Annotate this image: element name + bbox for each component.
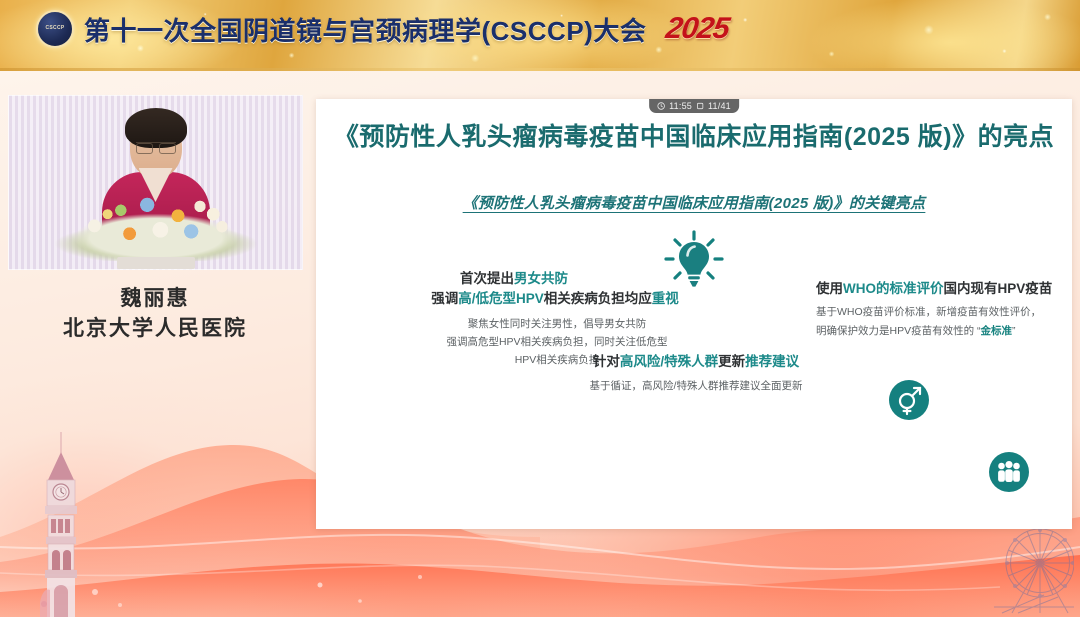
heading-plain-text: 相关疾病负担均应 bbox=[544, 291, 652, 306]
subtext-line: 聚焦女性同时关注男性，倡导男女共防 bbox=[322, 315, 792, 333]
cscp-logo-text: CSCCP bbox=[45, 26, 64, 32]
block-high-risk-special-population: 针对高风险/特殊人群更新推荐建议 基于循证，高风险/特殊人群推荐建议全面更新 bbox=[496, 352, 896, 396]
page-icon bbox=[696, 102, 704, 110]
glasses-icon bbox=[136, 142, 176, 151]
slide-subtitle: 《预防性人乳头瘤病毒疫苗中国临床应用指南(2025 版)》的关键亮点 bbox=[316, 192, 1072, 213]
slide-title: 《预防性人乳头瘤病毒疫苗中国临床应用指南(2025 版)》的亮点 bbox=[316, 117, 1072, 153]
slide-panel: 11:55 11/41 《预防性人乳头瘤病毒疫苗中国临床应用指南(2025 版)… bbox=[316, 99, 1072, 529]
heading-plain-text: 使用 bbox=[816, 281, 843, 296]
block-subtext: 基于循证，高风险/特殊人群推荐建议全面更新 bbox=[496, 377, 896, 395]
podium-base bbox=[117, 257, 195, 269]
speaker-organization: 北京大学人民医院 bbox=[0, 312, 310, 342]
cscp-logo-icon: CSCCP bbox=[36, 10, 74, 48]
page-counter: 11/41 bbox=[708, 99, 731, 113]
heading-plain-text: 强调 bbox=[431, 291, 458, 306]
subtext-line: 强调高危型HPV相关疾病负担，同时关注低危型 bbox=[322, 333, 792, 351]
heading-plain-text: 针对 bbox=[593, 354, 620, 369]
app-stage: CSCCP 第十一次全国阴道镜与宫颈病理学(CSCCP)大会 2025 魏丽惠 … bbox=[0, 0, 1080, 617]
block-heading-line1: 针对高风险/特殊人群更新推荐建议 bbox=[496, 352, 896, 372]
ferris-wheel-illustration bbox=[954, 525, 1074, 617]
conference-banner: CSCCP 第十一次全国阴道镜与宫颈病理学(CSCCP)大会 2025 bbox=[0, 0, 1080, 71]
clock-tower-illustration bbox=[38, 432, 84, 617]
block-heading-line1: 首次提出男女共防 bbox=[322, 269, 792, 289]
subtext-highlight: 金标准 bbox=[981, 325, 1013, 337]
flower-arrangement bbox=[46, 183, 266, 261]
block-subtext: 基于WHO疫苗评价标准，新增疫苗有效性评价， 明确保护效力是HPV疫苗有效性的 … bbox=[816, 303, 1074, 340]
conference-title: 第十一次全国阴道镜与宫颈病理学(CSCCP)大会 bbox=[84, 11, 646, 48]
elapsed-time: 11:55 bbox=[669, 99, 692, 113]
heading-plain-text: 国内现有HPV疫苗 bbox=[944, 281, 1053, 296]
subtext-line: 明确保护效力是HPV疫苗有效性的 “金标准” bbox=[816, 322, 1074, 340]
heading-accent-text: 推荐建议 bbox=[745, 354, 799, 369]
block-heading-line1: 使用WHO的标准评价国内现有HPV疫苗 bbox=[816, 279, 1074, 299]
heading-accent-text: 男女共防 bbox=[514, 271, 568, 286]
conference-year: 2025 bbox=[664, 12, 732, 46]
people-group-icon bbox=[989, 452, 1029, 492]
block-who-standard-evaluation: 使用WHO的标准评价国内现有HPV疫苗 基于WHO疫苗评价标准，新增疫苗有效性评… bbox=[816, 279, 1074, 340]
heading-plain-text: 首次提出 bbox=[460, 271, 514, 286]
heading-accent-text: 高风险/特殊人群 bbox=[620, 354, 718, 369]
speaker-name: 魏丽惠 bbox=[0, 282, 310, 312]
slide-progress-badge: 11:55 11/41 bbox=[649, 99, 739, 113]
subtext-line: 基于WHO疫苗评价标准，新增疫苗有效性评价， bbox=[816, 303, 1074, 321]
clock-icon bbox=[657, 102, 665, 110]
heading-accent-text: WHO的标准评价 bbox=[843, 281, 944, 296]
block-heading-line2: 强调高/低危型HPV相关疾病负担均应重视 bbox=[322, 289, 792, 309]
speaker-video-feed[interactable] bbox=[8, 95, 303, 270]
heading-plain-text: 更新 bbox=[718, 354, 745, 369]
subtext-line: 基于循证，高风险/特殊人群推荐建议全面更新 bbox=[496, 377, 896, 395]
heading-accent-text: 重视 bbox=[652, 291, 679, 306]
heading-accent-text: 高/低危型HPV bbox=[458, 291, 544, 306]
banner-content: CSCCP 第十一次全国阴道镜与宫颈病理学(CSCCP)大会 2025 bbox=[36, 10, 729, 48]
